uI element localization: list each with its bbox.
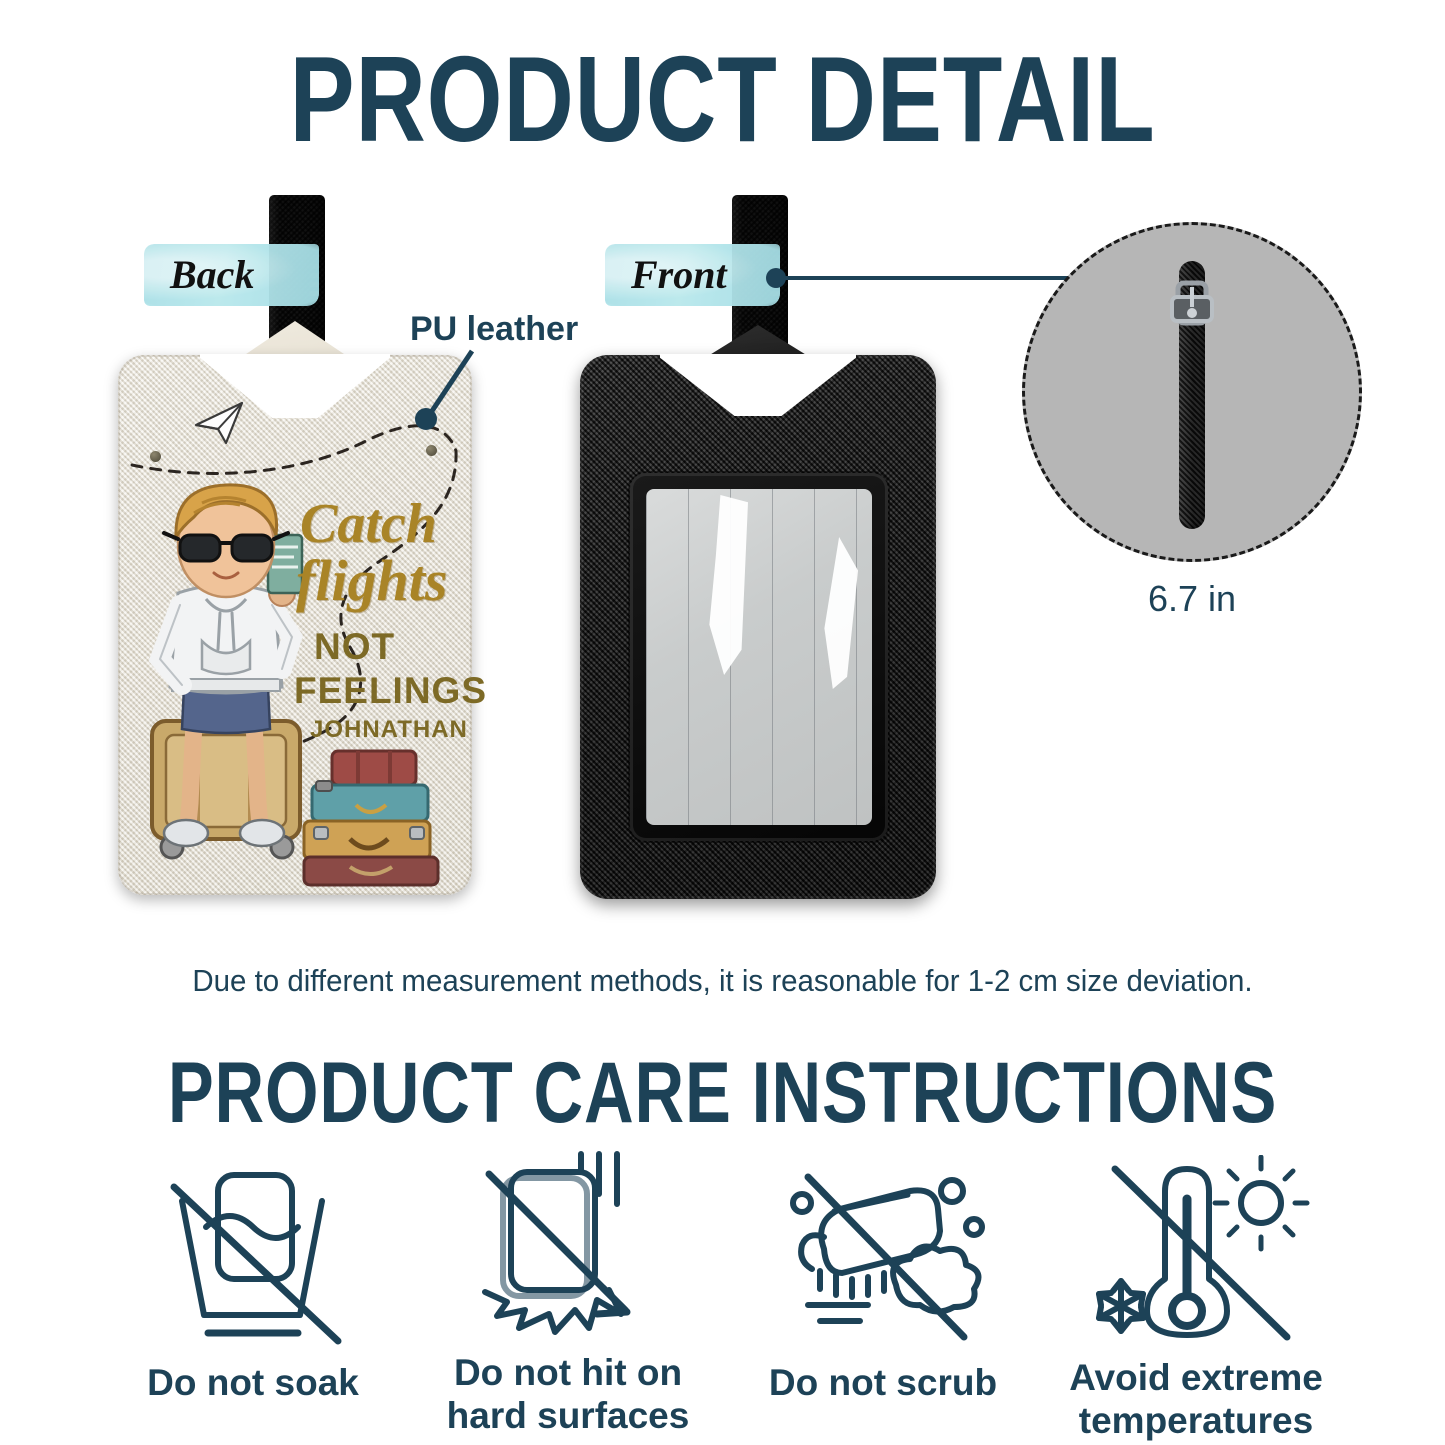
tag-script-line-2: flights [296, 551, 448, 611]
care-label-line-2: temperatures [1046, 1399, 1346, 1442]
tag-script-line-1: Catch [300, 495, 437, 553]
no-scrub-icon [733, 1165, 1033, 1355]
no-soak-icon [103, 1165, 403, 1355]
care-item-no-extreme-temperature: Avoid extreme temperatures [1046, 1160, 1346, 1442]
window-glare-1 [702, 495, 748, 675]
back-tag-body: Catch flights NOT FEELINGS JOHNATHAN [118, 355, 472, 895]
front-label-text: Front [631, 249, 727, 301]
id-window-frame [630, 473, 888, 841]
care-item-no-soak: Do not soak [103, 1165, 403, 1404]
product-detail-infographic: PRODUCT DETAIL [0, 0, 1445, 1445]
no-extreme-temperature-icon [1046, 1160, 1346, 1350]
care-item-no-scrub: Do not scrub [733, 1165, 1033, 1404]
back-label-text: Back [170, 249, 254, 301]
strap-detail-circle [1022, 222, 1362, 562]
buckle-icon [1162, 277, 1222, 349]
paper-plane-icon [196, 403, 242, 443]
suitcase-stack-illustration [298, 747, 458, 887]
strap-length-label: 6.7 in [1022, 578, 1362, 620]
luggage-tag-back: Catch flights NOT FEELINGS JOHNATHAN [118, 355, 472, 895]
care-label-line-1: Do not soak [103, 1361, 403, 1404]
tag-block-line-2: FEELINGS [294, 671, 487, 711]
care-item-no-impact: Do not hit on hard surfaces [418, 1155, 718, 1437]
front-tag-body [580, 355, 936, 899]
no-impact-icon [418, 1155, 718, 1345]
pu-leather-leader-dot [415, 408, 437, 430]
care-label-line-1: Do not hit on [418, 1351, 718, 1394]
care-instructions-title: PRODUCT CARE INSTRUCTIONS [145, 1050, 1301, 1136]
page-title: PRODUCT DETAIL [145, 38, 1301, 160]
pu-leather-callout-label: PU leather [410, 310, 578, 349]
care-label-line-1: Do not scrub [733, 1361, 1033, 1404]
window-glare-2 [816, 537, 858, 689]
pu-leather-leader-line [400, 345, 480, 435]
tag-personalized-name: JOHNATHAN [310, 717, 468, 743]
care-label-line-1: Avoid extreme [1046, 1356, 1346, 1399]
size-deviation-disclaimer: Due to different measurement methods, it… [36, 962, 1409, 1000]
luggage-tag-front [580, 355, 936, 899]
boy-character-illustration [136, 473, 316, 873]
tag-block-line-1: NOT [314, 627, 395, 667]
front-tag-notch [660, 354, 856, 416]
id-card [646, 489, 872, 825]
care-label-line-2: hard surfaces [418, 1394, 718, 1437]
